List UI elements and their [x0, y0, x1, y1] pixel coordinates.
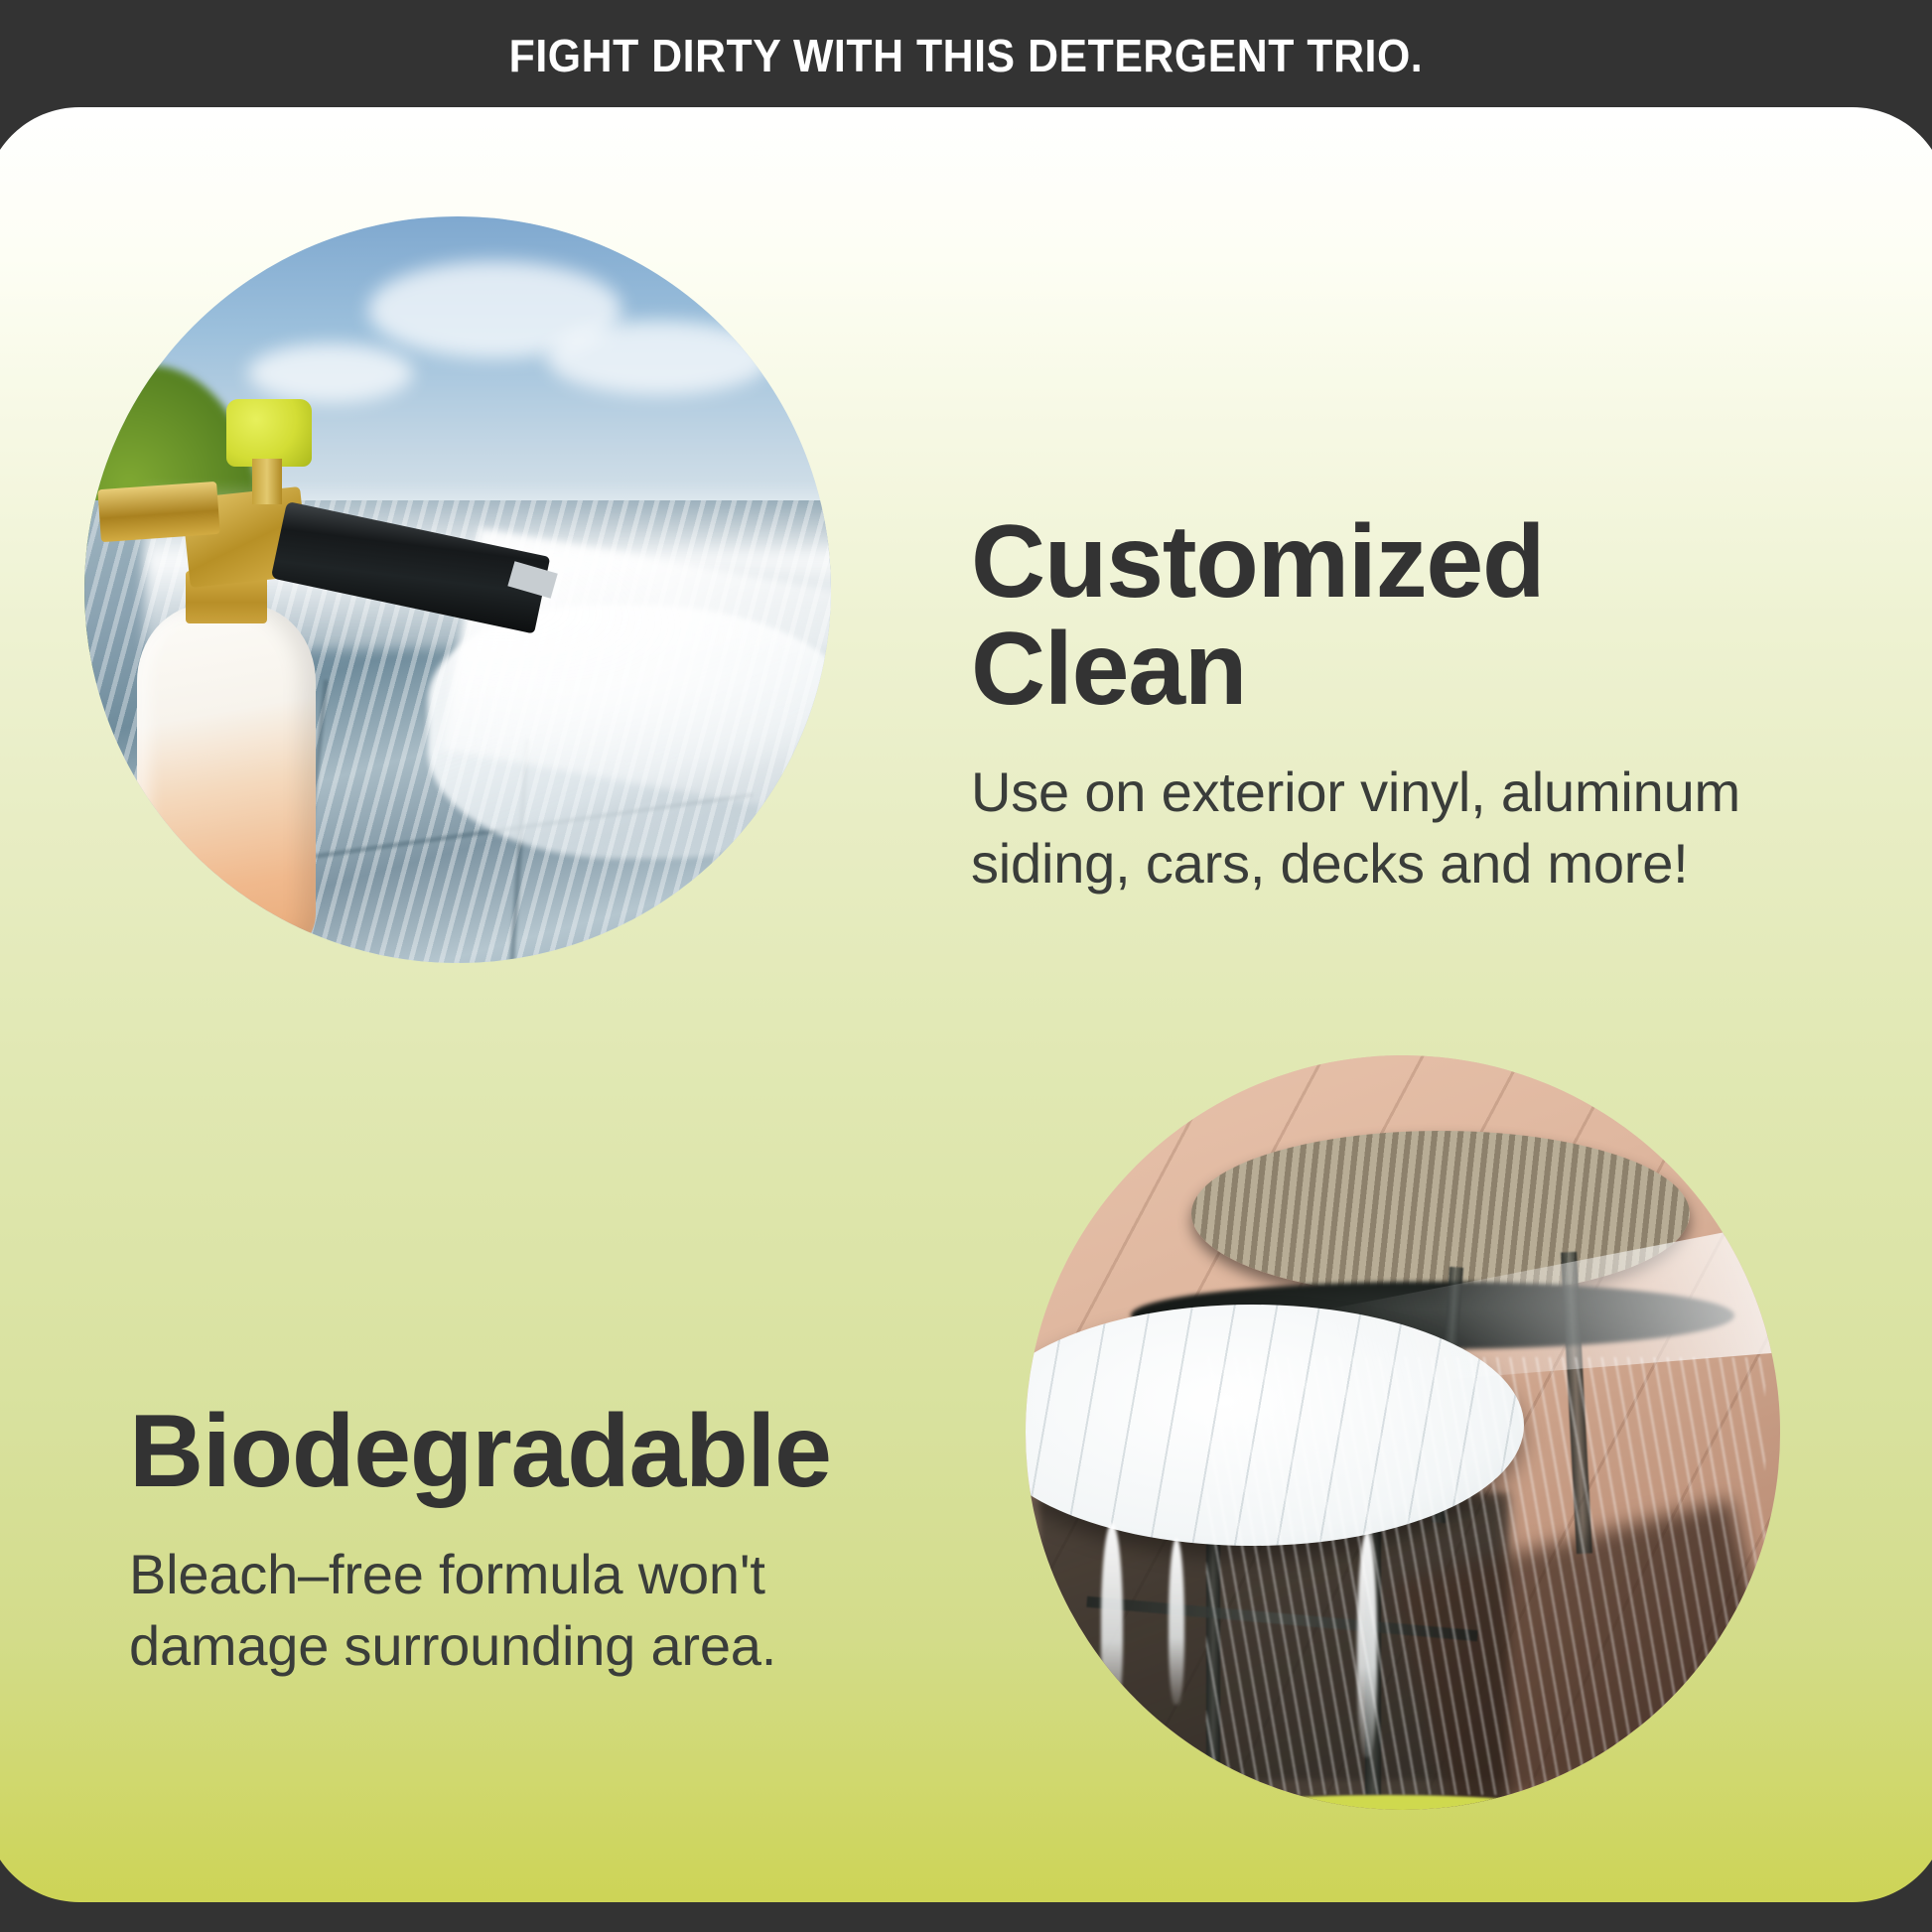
foam-drip — [1101, 1523, 1123, 1720]
spray-droplet-lines — [1206, 1357, 1764, 1795]
knob-stem — [252, 459, 282, 503]
foam-cannon-photo — [84, 216, 831, 963]
yellow-adjustment-knob — [226, 399, 312, 467]
feature-biodegradable: Biodegradable Bleach–free formula won't … — [129, 1398, 923, 1682]
content-card: Customized Clean Use on exterior vinyl, … — [0, 107, 1932, 1902]
detergent-bottle — [137, 605, 316, 955]
header-banner: FIGHT DIRTY WITH THIS DETERGENT TRIO. — [0, 0, 1932, 111]
cloud-shape — [248, 344, 412, 403]
feature-customized-clean: Customized Clean Use on exterior vinyl, … — [971, 508, 1825, 899]
banner-headline: FIGHT DIRTY WITH THIS DETERGENT TRIO. — [509, 29, 1424, 82]
brass-inlet-coupler — [97, 482, 220, 542]
feature-body-text: Use on exterior vinyl, aluminum siding, … — [971, 757, 1825, 898]
patio-table-photo — [1026, 1055, 1780, 1810]
feature-body-text: Bleach–free formula won't damage surroun… — [129, 1539, 923, 1681]
feature-heading: Biodegradable — [129, 1398, 923, 1505]
feature-heading: Customized Clean — [971, 508, 1825, 723]
cloud-shape — [547, 321, 771, 395]
